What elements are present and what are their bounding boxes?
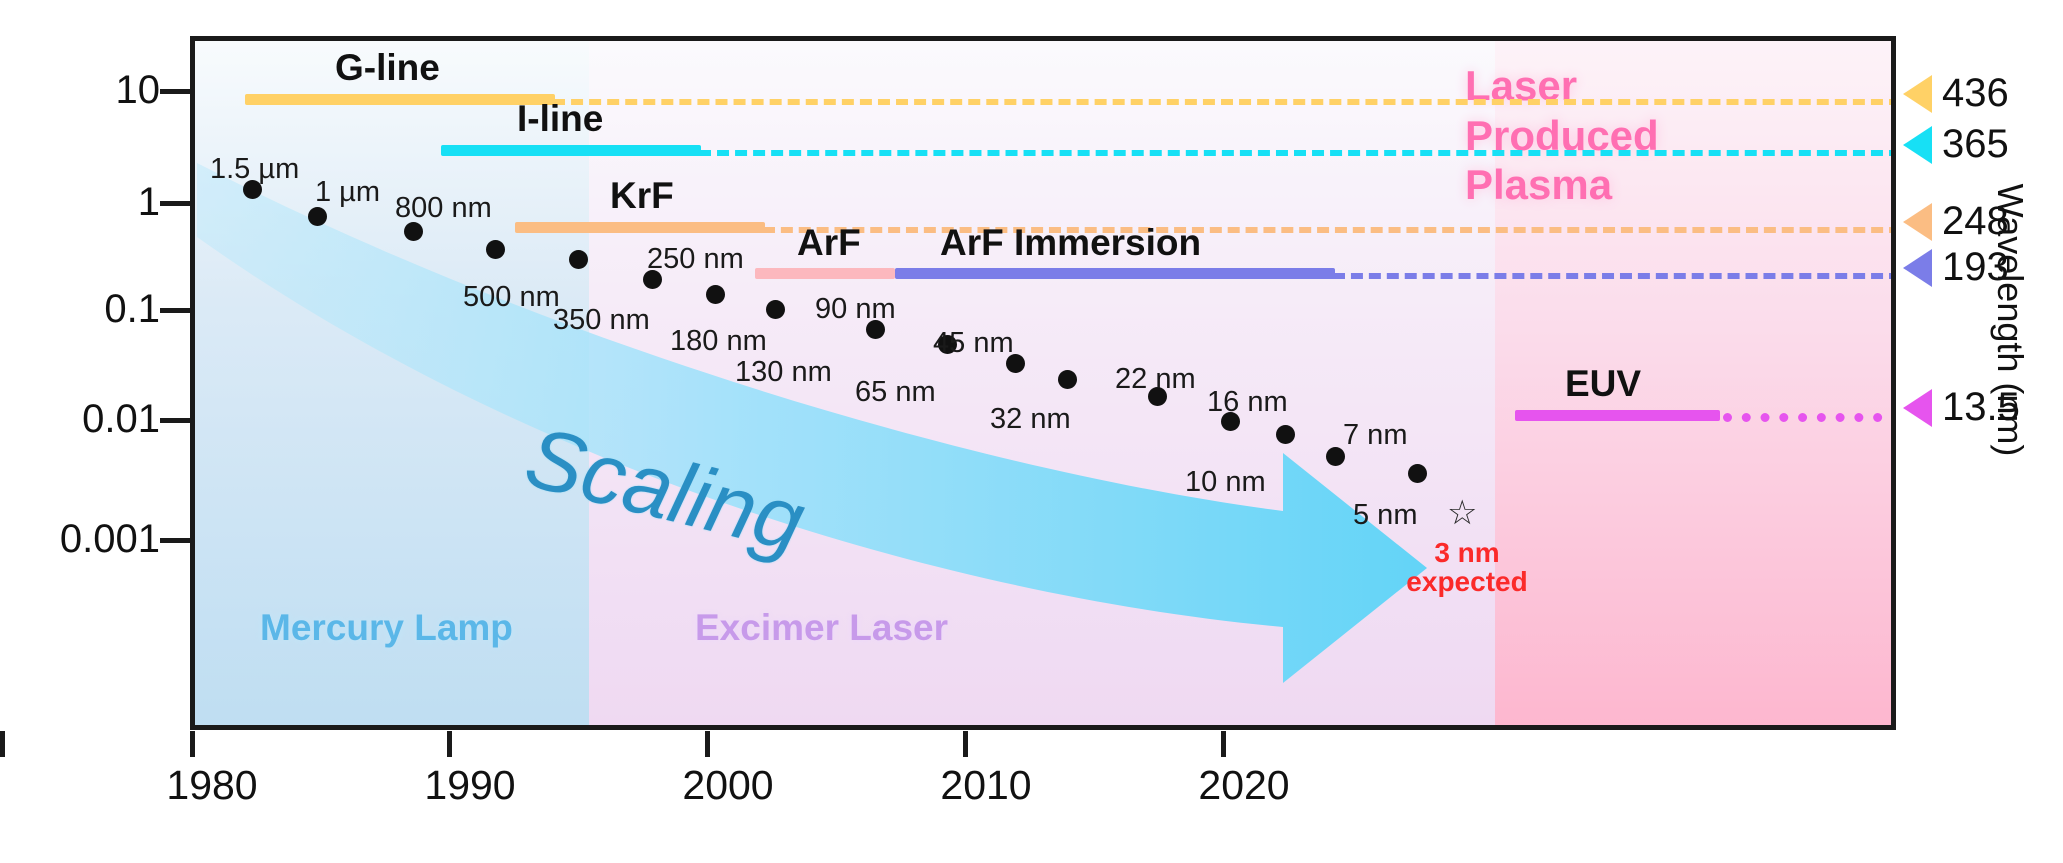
source-label-arf: ArF — [797, 222, 861, 264]
data-point — [1058, 370, 1077, 389]
source-bar-g-line — [245, 94, 555, 105]
x-tick-label-2020: 2020 — [1198, 762, 1289, 809]
data-label-10nm: 10 nm — [1185, 466, 1266, 499]
source-bar-arf — [755, 268, 895, 279]
zone-label-mercury: Mercury Lamp — [260, 607, 513, 649]
y-tick-mark — [160, 308, 190, 313]
source-bar-euv — [1515, 410, 1720, 421]
source-label-krf: KrF — [610, 175, 674, 217]
y-tick-label-0.01: 0.01 — [5, 397, 160, 442]
source-label-g-line: G-line — [335, 47, 440, 89]
data-label-45nm: 45 nm — [933, 327, 1014, 360]
source-label-arf-immersion: ArF Immersion — [940, 222, 1201, 264]
y-tick-mark — [160, 201, 190, 206]
lpp-line-3: Plasma — [1465, 160, 1659, 210]
y-tick-label-0.1: 0.1 — [25, 287, 160, 332]
data-label-5nm: 5 nm — [1353, 499, 1417, 532]
source-bar-krf — [515, 222, 765, 233]
projection-star-icon: ☆ — [1447, 493, 1477, 533]
y-tick-mark — [160, 538, 190, 543]
data-label-130nm: 130 nm — [735, 356, 832, 389]
source-dot-euv — [1723, 413, 1896, 422]
x-tick-label-1990: 1990 — [424, 762, 515, 809]
plot-area: Scaling Mercury Lamp Excimer Laser Laser… — [190, 36, 1896, 730]
data-label-250nm: 250 nm — [647, 243, 744, 276]
source-dash-krf — [763, 227, 1896, 233]
data-point — [308, 207, 327, 226]
data-point — [766, 300, 785, 319]
wavelength-arrow-13.5 — [1903, 389, 1932, 427]
data-label-16nm: 16 nm — [1207, 386, 1288, 419]
data-label-180nm: 180 nm — [670, 325, 767, 358]
data-label-22nm: 22 nm — [1115, 363, 1196, 396]
y-tick-mark — [160, 418, 190, 423]
x-tick-mark — [705, 731, 710, 757]
data-point — [486, 240, 505, 259]
projection-label-3nm: 3 nm expected — [1387, 538, 1547, 597]
source-dash-i-line — [699, 150, 1896, 156]
data-point — [1276, 425, 1295, 444]
y-axis-title: Technical node (µm) — [0, 0, 68, 70]
wavelength-arrow-365 — [1903, 126, 1932, 164]
data-label-500nm: 500 nm — [463, 281, 560, 314]
x-tick-mark — [963, 731, 968, 757]
x-tick-label-1980: 1980 — [166, 762, 257, 809]
data-label-32nm: 32 nm — [990, 403, 1071, 436]
data-label-7nm: 7 nm — [1343, 419, 1407, 452]
wavelength-arrow-436 — [1903, 75, 1932, 113]
y-tick-label-0.001: 0.001 — [0, 517, 160, 562]
data-label-350nm: 350 nm — [553, 304, 650, 337]
projection-label-line-1: 3 nm — [1387, 538, 1547, 567]
data-label-1um: 1 µm — [315, 176, 380, 209]
wavelength-arrow-193 — [1903, 249, 1932, 287]
x-tick-label-2010: 2010 — [940, 762, 1031, 809]
x-tick-label-2000: 2000 — [682, 762, 773, 809]
y-tick-label-10: 10 — [60, 68, 160, 113]
y2-axis-title: Wavelength (nm) — [1980, 0, 2040, 640]
data-label-1.5um: 1.5 µm — [210, 153, 299, 186]
laser-produced-plasma-label: Laser Produced Plasma — [1465, 61, 1659, 210]
source-label-euv: EUV — [1565, 363, 1641, 405]
x-tick-mark — [1221, 731, 1226, 757]
x-tick-mark — [447, 731, 452, 757]
x-tick-mark — [0, 731, 5, 757]
data-point — [1408, 464, 1427, 483]
source-dash-g-line — [553, 99, 1896, 105]
data-point — [706, 285, 725, 304]
projection-label-line-2: expected — [1387, 567, 1547, 596]
chart-root: Technical node (µm) 10 1 0.1 0.01 0.001 … — [0, 0, 2063, 863]
source-bar-arf-immersion — [895, 268, 1335, 279]
data-label-800nm: 800 nm — [395, 192, 492, 225]
data-label-90nm: 90 nm — [815, 293, 896, 326]
data-point — [569, 250, 588, 269]
x-tick-mark — [190, 731, 195, 757]
source-label-i-line: I-line — [517, 98, 603, 140]
wavelength-arrow-248 — [1903, 203, 1932, 241]
zone-label-excimer: Excimer Laser — [695, 607, 948, 649]
data-label-65nm: 65 nm — [855, 376, 936, 409]
source-bar-i-line — [441, 145, 701, 156]
source-dash-arf-immersion — [1333, 273, 1896, 279]
y-tick-mark — [160, 89, 190, 94]
y-tick-label-1: 1 — [60, 180, 160, 225]
